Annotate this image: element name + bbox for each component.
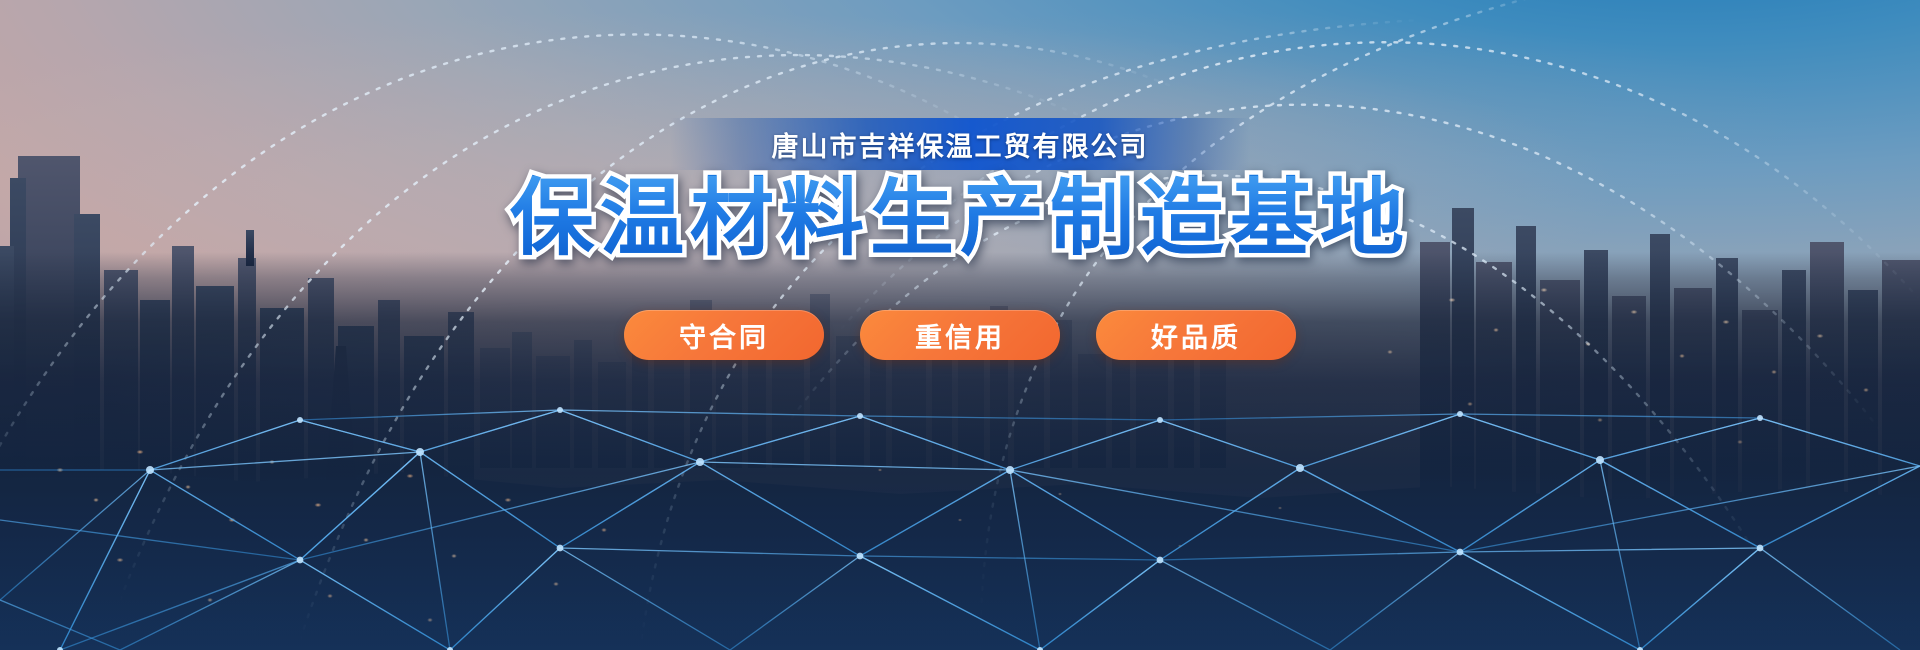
feature-tag-credit[interactable]: 重信用 xyxy=(860,310,1060,360)
feature-tag-row: 守合同 重信用 好品质 xyxy=(624,310,1296,360)
hero-banner: 唐山市吉祥保温工贸有限公司 保温材料生产制造基地 保温材料生产制造基地 守合同 … xyxy=(0,0,1920,650)
feature-tag-quality-label: 好品质 xyxy=(1151,316,1241,355)
feature-tag-credit-label: 重信用 xyxy=(915,316,1005,355)
company-name-strip: 唐山市吉祥保温工贸有限公司 xyxy=(670,118,1250,170)
banner-content: 唐山市吉祥保温工贸有限公司 保温材料生产制造基地 保温材料生产制造基地 守合同 … xyxy=(0,0,1920,650)
feature-tag-contract-label: 守合同 xyxy=(679,316,769,355)
feature-tag-quality[interactable]: 好品质 xyxy=(1096,310,1296,360)
feature-tag-contract[interactable]: 守合同 xyxy=(624,310,824,360)
headline-outline: 保温材料生产制造基地 xyxy=(510,176,1410,260)
company-name: 唐山市吉祥保温工贸有限公司 xyxy=(772,125,1149,164)
